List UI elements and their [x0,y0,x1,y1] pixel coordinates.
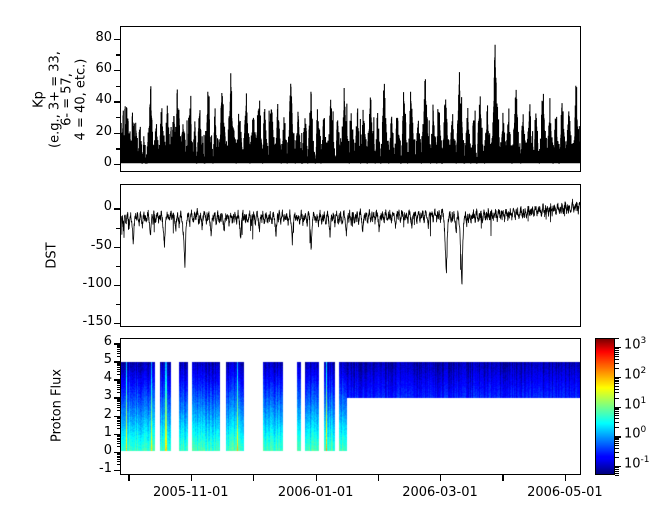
kp-minor-tick [116,148,120,149]
x-minor-tick [128,475,129,481]
proton-flux-minor-tick [117,400,121,401]
kp-minor-tick [116,54,120,55]
colorbar-minor-tick [615,473,619,474]
proton-flux-minor-tick [117,374,121,375]
colorbar-minor-tick [615,413,619,414]
proton-flux-minor-tick [117,434,121,435]
dst-major-tick [114,247,120,248]
colorbar-minor-tick [615,408,619,409]
proton-flux-minor-tick [117,456,121,457]
proton-flux-minor-tick [117,385,121,386]
colorbar-minor-tick [615,457,619,458]
proton-flux-minor-tick [117,363,121,364]
colorbar-minor-tick [615,443,619,444]
proton-flux-minor-tick [117,392,121,393]
dst-major-tick [114,208,120,209]
kp-major-tick [114,133,120,134]
colorbar-minor-tick [615,338,619,339]
kp-major-tick [114,39,120,40]
proton-flux-minor-tick [117,403,121,404]
proton-flux-minor-tick [117,380,121,381]
proton-flux-minor-tick [117,349,121,350]
proton-flux-minor-tick [117,387,121,388]
colorbar-minor-tick [615,445,619,446]
x-minor-tick [502,475,503,481]
proton-flux-minor-tick [117,362,121,363]
proton-flux-minor-tick [117,383,121,384]
colorbar-minor-tick [615,409,619,410]
colorbar-minor-tick [615,439,619,440]
dst-minor-tick [116,266,120,267]
proton-flux-minor-tick [117,344,121,345]
kp-panel [120,26,581,172]
proton-flux-minor-tick [117,371,121,372]
proton-flux-tick-label: -1 [80,461,112,476]
proton-flux-minor-tick [117,457,121,458]
kp-major-tick [114,164,120,165]
dst-panel [120,184,581,327]
x-tick-label: 2005-11-01 [141,485,241,500]
kp-y-axis-label-line: 6- = 57, [60,35,75,165]
colorbar-minor-tick [615,368,619,369]
colorbar-minor-tick [615,471,619,472]
proton-flux-major-tick [114,470,120,471]
colorbar-minor-tick [615,441,619,442]
colorbar-minor-tick [615,452,619,453]
proton-flux-minor-tick [117,410,121,411]
proton-flux-minor-tick [117,439,121,440]
proton-flux-y-axis-label-text: Proton Flux [50,341,65,471]
colorbar-minor-tick [615,448,619,449]
proton-flux-minor-tick [117,405,121,406]
proton-flux-minor-tick [117,345,121,346]
proton-flux-minor-tick [117,441,121,442]
dst-tick-label: -150 [74,314,112,329]
figure-canvas: 020406080 Kp(e.g., 3+ = 33,6- = 57, 4 = … [0,0,665,523]
kp-major-tick [114,70,120,71]
kp-y-axis-label-line: Kp [32,35,47,165]
proton-flux-minor-tick [117,459,121,460]
colorbar-minor-tick [615,354,619,355]
dst-tick-label: -100 [74,276,112,291]
colorbar-minor-tick [615,438,619,439]
kp-y-axis-label-line: 4 = 40, etc.) [74,35,89,165]
proton-flux-tick-label: 0 [80,443,112,458]
colorbar-minor-tick [615,352,619,353]
kp-major-tick [114,101,120,102]
dst-major-tick [114,285,120,286]
colorbar-minor-tick [615,359,619,360]
colorbar-tick-label: 100 [624,425,646,441]
colorbar-tick-label: 102 [624,366,646,382]
kp-minor-tick [116,117,120,118]
colorbar-minor-tick [615,350,619,351]
kp-minor-tick [116,86,120,87]
proton-flux-minor-tick [117,346,121,347]
colorbar-minor-tick [615,475,619,476]
proton-flux-minor-tick [117,454,121,455]
colorbar-minor-tick [615,348,619,349]
proton-flux-minor-tick [117,461,121,462]
proton-flux-spectrogram-image [121,339,580,474]
x-major-tick [565,475,566,481]
colorbar-minor-tick [615,392,619,393]
colorbar-minor-tick [615,422,619,423]
colorbar-minor-tick [615,469,619,470]
x-tick-label: 2006-05-01 [515,485,615,500]
colorbar-minor-tick [615,389,619,390]
proton-flux-minor-tick [117,369,121,370]
colorbar-minor-tick [615,418,619,419]
colorbar-minor-tick [615,467,619,468]
dst-major-tick [114,323,120,324]
proton-flux-minor-tick [117,436,121,437]
proton-flux-tick-label: 5 [80,352,112,367]
dst-series-plot [121,185,580,326]
proton-flux-minor-tick [117,417,121,418]
proton-flux-minor-tick [117,351,121,352]
x-minor-tick [378,475,379,481]
colorbar-minor-tick [615,383,619,384]
colorbar-gradient [595,338,615,475]
colorbar-minor-tick [615,415,619,416]
proton-flux-minor-tick [117,423,121,424]
proton-flux-minor-tick [117,443,121,444]
proton-flux-minor-tick [117,353,121,354]
proton-flux-minor-tick [117,398,121,399]
proton-flux-minor-tick [117,420,121,421]
proton-flux-minor-tick [117,399,121,400]
proton-flux-minor-tick [117,446,121,447]
x-tick-label: 2006-03-01 [390,485,490,500]
colorbar-minor-tick [615,378,619,379]
colorbar-tick-label: 10-1 [624,455,650,471]
colorbar-minor-tick [615,411,619,412]
dst-tick-label: 0 [74,199,112,214]
colorbar-minor-tick [615,380,619,381]
proton-flux-minor-tick [117,367,121,368]
proton-flux-panel [120,338,581,475]
proton-flux-tick-label: 4 [80,370,112,385]
proton-flux-minor-tick [117,407,121,408]
proton-flux-minor-tick [117,453,121,454]
proton-flux-minor-tick [117,401,121,402]
proton-flux-minor-tick [117,418,121,419]
proton-flux-minor-tick [117,381,121,382]
proton-flux-tick-label: 3 [80,388,112,403]
colorbar-minor-tick [615,386,619,387]
proton-flux-minor-tick [117,365,121,366]
colorbar-minor-tick [615,381,619,382]
proton-flux-minor-tick [117,438,121,439]
proton-flux-tick-label: 1 [80,425,112,440]
proton-flux-minor-tick [117,452,121,453]
proton-flux-minor-tick [117,382,121,383]
colorbar-tick-label: 103 [624,336,646,352]
proton-flux-tick-label: 2 [80,407,112,422]
proton-flux-minor-tick [117,356,121,357]
proton-flux-minor-tick [117,435,121,436]
proton-flux-minor-tick [117,464,121,465]
x-major-tick [191,475,192,481]
colorbar-minor-tick [615,356,619,357]
kp-series-plot [121,27,580,171]
proton-flux-minor-tick [117,347,121,348]
proton-flux-minor-tick [117,416,121,417]
dst-minor-tick [116,228,120,229]
x-major-tick [316,475,317,481]
proton-flux-minor-tick [117,364,121,365]
proton-flux-minor-tick [117,421,121,422]
colorbar-minor-tick [615,398,619,399]
dst-minor-tick [116,304,120,305]
dst-y-axis-label-text: DST [45,211,60,301]
dst-tick-label: -50 [74,238,112,253]
x-major-tick [440,475,441,481]
colorbar-minor-tick [615,363,619,364]
proton-flux-minor-tick [117,428,121,429]
colorbar-minor-tick [615,427,619,428]
x-tick-label: 2006-01-01 [266,485,366,500]
proton-flux-minor-tick [117,389,121,390]
proton-flux-tick-label: 6 [80,334,112,349]
proton-flux-minor-tick [117,425,121,426]
colorbar-tick-label: 101 [624,396,646,412]
x-minor-tick [253,475,254,481]
